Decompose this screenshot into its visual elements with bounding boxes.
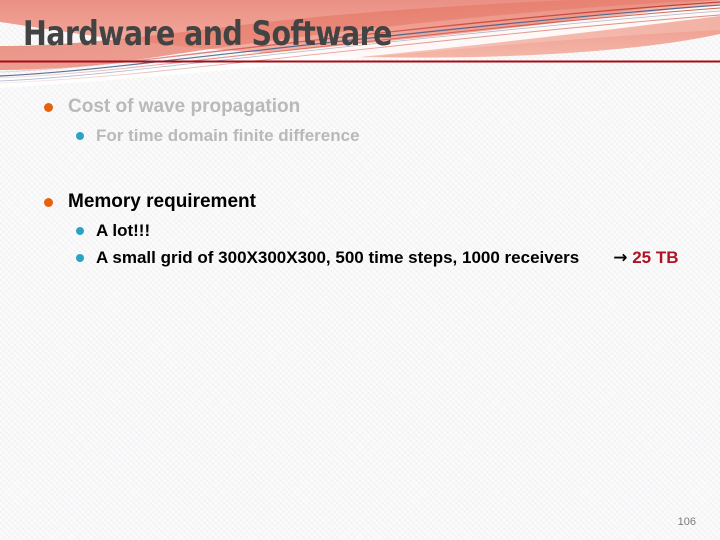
bullet-level1-cost: Cost of wave propagation	[0, 92, 720, 122]
bullet-level2-grid-estimate: A small grid of 300X300X300, 500 time st…	[0, 244, 720, 272]
memory-estimate-value: 25 TB	[632, 248, 678, 267]
bullet-level2-fdtd: For time domain finite difference	[0, 122, 720, 149]
teal-disc-bullet-icon	[76, 227, 84, 235]
bullet-level2-label: A lot!!!	[96, 221, 150, 240]
bullet-level1-label: Cost of wave propagation	[68, 96, 300, 117]
bullet-level2-label: For time domain finite difference	[96, 126, 360, 145]
slide-title: Hardware and Software	[23, 11, 637, 57]
bullet-level2-a-lot: A lot!!!	[0, 217, 720, 244]
orange-disc-bullet-icon	[44, 198, 53, 207]
slide-body: Cost of wave propagation For time domain…	[0, 92, 720, 272]
slide-canvas: Hardware and Software Cost of wave propa…	[0, 0, 720, 540]
bullet-level2-label: A small grid of 300X300X300, 500 time st…	[96, 248, 579, 267]
teal-disc-bullet-icon	[76, 132, 84, 140]
bullet-level1-memory: Memory requirement	[0, 187, 720, 217]
bullet-group-memory: Memory requirement A lot!!! A small grid…	[0, 187, 720, 272]
right-arrow-icon: →	[613, 248, 627, 268]
page-number: 106	[678, 516, 696, 528]
bullet-level1-label: Memory requirement	[68, 191, 256, 212]
teal-disc-bullet-icon	[76, 254, 84, 262]
bullet-group-faded: Cost of wave propagation For time domain…	[0, 92, 720, 149]
orange-disc-bullet-icon	[44, 103, 53, 112]
